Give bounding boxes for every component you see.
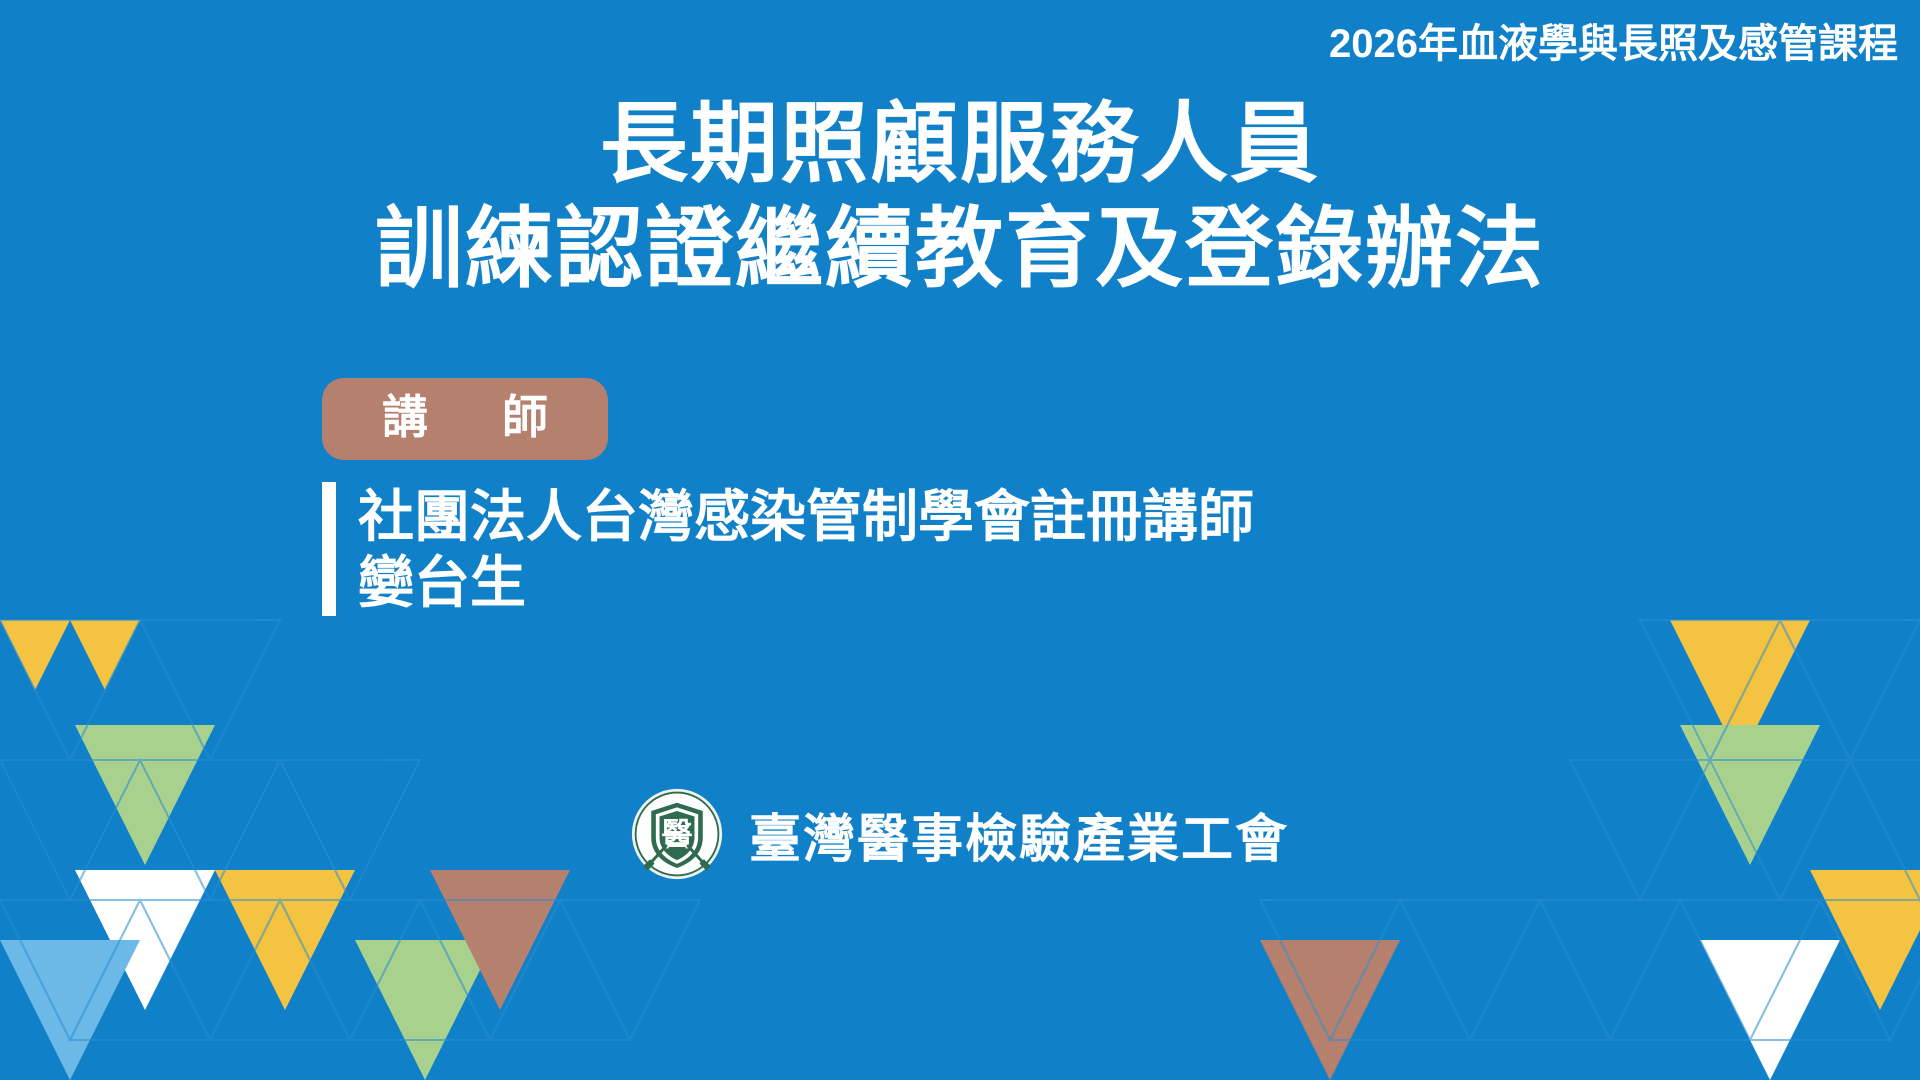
triangle-lightblue-3 [215, 1010, 355, 1080]
triangle-yellow-r2 [1810, 870, 1920, 1010]
title-line-1: 長期照顧服務人員 [0, 96, 1920, 191]
triangle-rose-r [1260, 940, 1400, 1080]
speaker-section: 講 師 社團法人台灣感染管制學會註冊講師 孌台生 [322, 378, 1254, 616]
triangle-lightblue-2 [0, 940, 140, 1080]
organization-name: 臺灣醫事檢驗產業工會 [749, 797, 1289, 872]
title-line-2: 訓練認證繼續教育及登錄辦法 [0, 201, 1920, 296]
speaker-name: 孌台生 [358, 550, 1254, 616]
shield-caduceus-logo: 醫 [631, 788, 723, 880]
speaker-affiliation-row: 社團法人台灣感染管制學會註冊講師 孌台生 [322, 482, 1254, 616]
organization-footer: 醫 臺灣醫事檢驗產業工會 [0, 788, 1920, 880]
triangle-white-2 [75, 870, 215, 1010]
slide-canvas: 2026年血液學與長照及感管課程 長期照顧服務人員 訓練認證繼續教育及登錄辦法 … [0, 0, 1920, 1080]
speaker-affiliation: 社團法人台灣感染管制學會註冊講師 [358, 484, 1254, 550]
page-title: 長期照顧服務人員 訓練認證繼續教育及登錄辦法 [0, 96, 1920, 296]
triangle-yellow-2 [215, 870, 355, 1010]
triangle-white-r [1700, 940, 1840, 1080]
course-series-eyebrow: 2026年血液學與長照及感管課程 [1329, 22, 1898, 66]
role-badge: 講 師 [322, 378, 608, 460]
triangle-green-2 [355, 940, 495, 1080]
speaker-details: 社團法人台灣感染管制學會註冊講師 孌台生 [358, 482, 1254, 616]
triangle-lightblue [0, 865, 140, 1005]
triangle-rose [430, 870, 570, 1010]
triangle-yellow-r [1670, 620, 1810, 760]
triangle-white [0, 620, 140, 760]
triangle-yellow [0, 620, 140, 760]
accent-bar [322, 482, 336, 616]
